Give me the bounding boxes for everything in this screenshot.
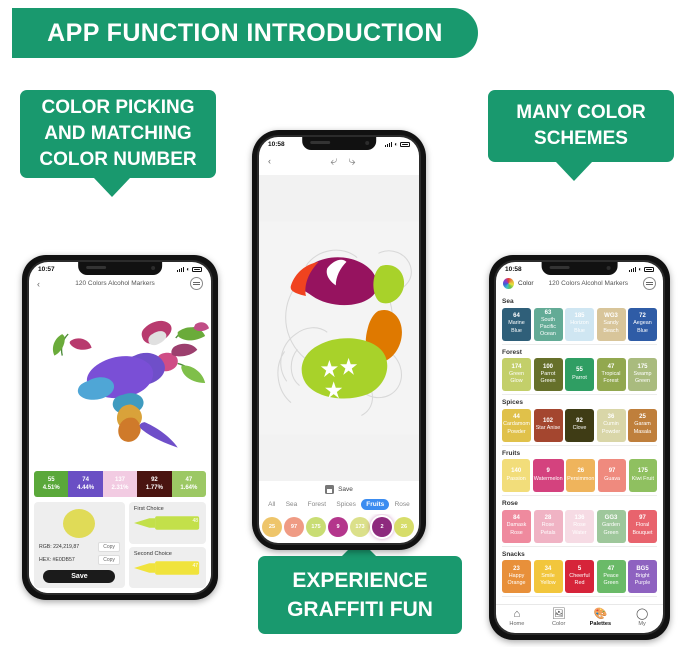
palette-chip-name: Watermelon	[534, 476, 563, 483]
battery-icon	[400, 142, 410, 147]
palette-group-name: Snacks	[502, 551, 657, 558]
palette-chip-name: Parrot	[572, 375, 587, 382]
palette-chip-number: 102	[543, 418, 553, 425]
tab-my-label: My	[638, 621, 645, 627]
header-banner-title: APP FUNCTION INTRODUCTION	[47, 19, 443, 48]
category-tabs: All Sea Forest Spices Fruits Rose	[259, 497, 419, 514]
camera-icon	[151, 266, 155, 270]
hex-row: HEX: #E0DB57 Copy	[39, 555, 120, 565]
phone-left: 10:57 ◐ ‹ 120 Colors Alcohol Markers	[22, 255, 218, 600]
palette-chip-number: 97	[609, 468, 616, 475]
palette-chip-name: Marine Blue	[503, 320, 530, 334]
palette-chip-row: 44Cardamom Powder102Star Anise92Clove36C…	[502, 409, 657, 442]
divider	[502, 596, 657, 597]
color-circle[interactable]: 26	[394, 517, 414, 537]
palette-group-name: Fruits	[502, 450, 657, 457]
tab-all[interactable]: All	[263, 499, 280, 510]
image-icon: 🖼	[552, 609, 566, 620]
wifi-icon: ◐	[186, 267, 190, 273]
palette-chip-number: GG3	[605, 515, 618, 522]
tab-spices[interactable]: Spices	[331, 499, 361, 510]
rgb-row: RGB: 224,219,87 Copy	[39, 542, 120, 552]
palette-chip-number: 63	[545, 310, 552, 317]
palette-chip[interactable]: 92Clove	[565, 409, 594, 442]
speaker-icon	[86, 266, 106, 269]
palette-chip-number: 47	[608, 364, 615, 371]
palette-group: Forest174Green Glow100Parrot Green55Parr…	[496, 345, 663, 396]
palette-chip-name: Aegean Blue	[629, 320, 656, 334]
phone-bezel: 10:58 ◐ Color 120 Colors Alcohol Markers…	[494, 260, 665, 635]
palette-chip[interactable]: 97Floral Bouquet	[628, 510, 657, 543]
page-title: 120 Colors Alcohol Markers	[45, 280, 185, 287]
palette-chip-name: Garden Green	[598, 522, 625, 536]
copy-hex-button[interactable]: Copy	[98, 555, 120, 565]
palette-chip[interactable]: 175Kiwi Fruit	[629, 459, 657, 492]
signal-bars-icon	[177, 267, 185, 272]
tab-forest[interactable]: Forest	[303, 499, 331, 510]
palette-chip[interactable]: 64Marine Blue	[502, 308, 531, 341]
person-icon: ◯	[636, 609, 648, 620]
palette-chip-number: 26	[577, 468, 584, 475]
palette-chip-name: Parrot Green	[535, 371, 562, 385]
palette-chip[interactable]: 47Peace Green	[597, 560, 626, 593]
status-time: 10:57	[38, 266, 55, 273]
second-choice-label: Second Choice	[134, 551, 201, 557]
speaker-icon	[549, 266, 569, 269]
wifi-icon: ◐	[638, 267, 642, 273]
palette-chip[interactable]: 72Aegean Blue	[628, 308, 657, 341]
rgb-value: RGB: 224,219,87	[39, 544, 79, 550]
palette-chip[interactable]: BG5Bright Purple	[628, 560, 657, 593]
swatch-percent: 1.77%	[146, 484, 163, 492]
chevron-left-icon[interactable]: ‹	[37, 279, 40, 289]
phone-right-screen: 10:58 ◐ Color 120 Colors Alcohol Markers…	[496, 262, 663, 633]
palette-chip[interactable]: 44Cardamom Powder	[502, 409, 531, 442]
phone-bezel: 10:58 ◐ ‹ ⤶ ⤷	[257, 135, 421, 545]
battery-icon	[192, 267, 202, 272]
palette-chip-name: Sandy Beach	[598, 320, 625, 334]
color-circle[interactable]: 25	[262, 517, 282, 537]
palette-chip-number: 34	[545, 566, 552, 573]
palette-group: Spices44Cardamom Powder102Star Anise92Cl…	[496, 395, 663, 446]
chevron-left-icon[interactable]: ‹	[268, 156, 271, 166]
palette-group: Fruits140Passion9Watermelon26Persimmon97…	[496, 446, 663, 497]
marker-illustration: 48	[134, 515, 201, 529]
swatch-item[interactable]: 92 1.77%	[137, 471, 171, 497]
palette-chip[interactable]: 9Watermelon	[533, 459, 564, 492]
palette-chip-row: 23Happy Orange34Smile Yellow5Cheerful Re…	[502, 560, 657, 593]
toolbar-center: ⤶ ⤷	[276, 153, 410, 169]
swatch-number: 92	[151, 476, 158, 484]
swatch-item[interactable]: 137 2.31%	[103, 471, 137, 497]
status-icons: ◐	[177, 267, 202, 273]
palette-chip-number: BG5	[636, 566, 648, 573]
palette-chip-name: Peace Green	[598, 573, 625, 587]
color-circle[interactable]: 173	[350, 517, 370, 537]
callout-tail	[94, 178, 130, 197]
callout-graffiti-fun: EXPERIENCE GRAFFITI FUN	[258, 556, 462, 634]
palette-chip[interactable]: 5Cheerful Red	[565, 560, 594, 593]
swatch-number: 55	[48, 476, 55, 484]
palette-chip[interactable]: 47Tropical Forest	[597, 358, 626, 391]
palette-list[interactable]: Sea64Marine Blue63South Pacific Ocean185…	[496, 294, 663, 604]
palette-chip-row: 140Passion9Watermelon26Persimmon97Guava1…	[502, 459, 657, 492]
save-row[interactable]: Save	[259, 481, 419, 497]
palette-chip[interactable]: 136Rose Water	[565, 510, 594, 543]
notch	[541, 262, 618, 275]
palette-chip-number: 175	[637, 364, 647, 371]
phone-left-screen: 10:57 ◐ ‹ 120 Colors Alcohol Markers	[29, 262, 211, 593]
tab-sea[interactable]: Sea	[281, 499, 303, 510]
marker-shape-icon	[134, 515, 201, 531]
swatch-percent: 4.44%	[77, 484, 94, 492]
palette-chip-name: Swamp Green	[629, 371, 656, 385]
save-button[interactable]: Save	[43, 570, 115, 583]
color-wheel-icon[interactable]	[503, 278, 514, 289]
palette-chip-number: 55	[576, 367, 583, 374]
signal-bars-icon	[385, 142, 393, 147]
palette-chip-number: 23	[513, 566, 520, 573]
callout-many-schemes: MANY COLOR SCHEMES	[488, 90, 674, 162]
status-icons: ◐	[385, 142, 410, 148]
palette-chip-name: Smile Yellow	[535, 573, 562, 587]
tab-my[interactable]: ◯ My	[621, 609, 663, 628]
color-circle[interactable]: 9	[328, 517, 348, 537]
palette-group: Sea64Marine Blue63South Pacific Ocean185…	[496, 294, 663, 345]
palette-chip-number: 64	[513, 313, 520, 320]
palette-chip[interactable]: 25Garam Masala	[628, 409, 657, 442]
hex-value: HEX: #E0DB57	[39, 557, 75, 563]
phone-bezel: 10:57 ◐ ‹ 120 Colors Alcohol Markers	[27, 260, 213, 595]
picker-panels: RGB: 224,219,87 Copy HEX: #E0DB57 Copy S…	[29, 497, 211, 593]
header-banner: APP FUNCTION INTRODUCTION	[12, 8, 478, 58]
palette-chip-name: Bright Purple	[629, 573, 656, 587]
palette-chip-name: Clove	[573, 425, 587, 432]
palette-chip-row: 174Green Glow100Parrot Green55Parrot47Tr…	[502, 358, 657, 391]
palette-chip-number: 28	[545, 515, 552, 522]
redo-arrow-icon[interactable]: ⤷	[348, 153, 355, 168]
color-circle[interactable]: 175	[306, 517, 326, 537]
palette-chip-number: 92	[576, 418, 583, 425]
first-choice-number: 48	[192, 518, 198, 524]
palette-chip[interactable]: 185Horizon Blue	[565, 308, 594, 341]
palette-chip[interactable]: 23Happy Orange	[502, 560, 531, 593]
palette-chip-number: 36	[608, 414, 615, 421]
tab-palettes-label: Palettes	[590, 621, 611, 627]
palette-chip[interactable]: 55Parrot	[565, 358, 594, 391]
palette-chip-name: Passion	[507, 476, 526, 483]
palette-chip-name: Cheerful Red	[566, 573, 593, 587]
phone-middle: 10:58 ◐ ‹ ⤶ ⤷	[252, 130, 426, 550]
first-choice-card[interactable]: First Choice 48	[129, 502, 206, 544]
tab-home-label: Home	[509, 621, 524, 627]
palette-chip-name: Cumin Powder	[598, 421, 625, 435]
editor-toolbar: ‹ ⤶ ⤷	[259, 149, 419, 175]
palette-chip-number: 97	[639, 515, 646, 522]
save-disk-icon	[325, 485, 334, 494]
palette-chip-row: 84Damask Rose28Rose Petals136Rose WaterG…	[502, 510, 657, 543]
palette-header: Color 120 Colors Alcohol Markers	[496, 274, 663, 294]
swatch-item[interactable]: 55 4.51%	[34, 471, 68, 497]
palette-chip-name: Happy Orange	[503, 573, 530, 587]
save-label: Save	[338, 486, 353, 493]
status-icons: ◐	[629, 267, 654, 273]
palette-icon: 🎨	[594, 609, 608, 620]
palette-chip-name: Tropical Forest	[598, 371, 625, 385]
palette-group-name: Forest	[502, 349, 657, 356]
swatch-percent: 1.64%	[180, 484, 197, 492]
palette-group-name: Rose	[502, 500, 657, 507]
tab-color[interactable]: 🖼 Color	[538, 609, 580, 628]
callout-color-picking: COLOR PICKING AND MATCHING COLOR NUMBER	[20, 90, 216, 178]
home-icon: ⌂	[514, 609, 521, 620]
palette-chip[interactable]: GG3Garden Green	[597, 510, 626, 543]
palette-chip[interactable]: 84Damask Rose	[502, 510, 531, 543]
palette-chip[interactable]: 34Smile Yellow	[534, 560, 563, 593]
palette-chip-name: Rose Water	[566, 522, 593, 536]
palette-group: Rose84Damask Rose28Rose Petals136Rose Wa…	[496, 496, 663, 547]
palette-chip-name: Cardamom Powder	[503, 421, 530, 435]
palette-chip-name: Green Glow	[503, 371, 530, 385]
phone-middle-screen: 10:58 ◐ ‹ ⤶ ⤷	[259, 137, 419, 543]
palette-chip[interactable]: 26Persimmon	[566, 459, 595, 492]
color-circle[interactable]: 97	[284, 517, 304, 537]
palette-chip-name: Damask Rose	[503, 522, 530, 536]
bottom-tab-bar: ⌂ Home 🖼 Color 🎨 Palettes ◯ My	[496, 604, 663, 634]
palette-chip-name: Guava	[604, 476, 620, 483]
palette-chip[interactable]: 174Green Glow	[502, 358, 531, 391]
second-choice-number: 47	[192, 563, 198, 569]
battery-icon	[644, 267, 654, 272]
first-choice-label: First Choice	[134, 506, 201, 512]
palette-chip[interactable]: 102Star Anise	[534, 409, 563, 442]
palette-chip-name: Star Anise	[536, 425, 561, 432]
palette-group-name: Sea	[502, 298, 657, 305]
palette-chip[interactable]: 36Cumin Powder	[597, 409, 626, 442]
hummingbird-illustration	[29, 295, 211, 471]
swatch-number: 47	[185, 476, 192, 484]
palette-chip-name: South Pacific Ocean	[535, 317, 562, 339]
palette-chip-number: 175	[638, 468, 648, 475]
palette-chip-number: 25	[639, 414, 646, 421]
tab-color-label: Color	[552, 621, 565, 627]
palette-chip-number: 5	[578, 566, 581, 573]
palette-chip-name: Kiwi Fruit	[632, 476, 654, 483]
palette-chip-number: 84	[513, 515, 520, 522]
copy-rgb-button[interactable]: Copy	[98, 542, 120, 552]
palette-chip-number: 100	[543, 364, 553, 371]
palette-chip-number: 174	[511, 364, 521, 371]
page-title: 120 Colors Alcohol Markers	[538, 280, 639, 287]
palette-chip-name: Garam Masala	[629, 421, 656, 435]
artwork-hummingbird[interactable]	[29, 295, 211, 471]
palette-chip-number: 140	[511, 468, 521, 475]
palette-chip[interactable]: WG3Sandy Beach	[597, 308, 626, 341]
undo-arrow-icon[interactable]: ⤶	[330, 153, 337, 168]
signal-bars-icon	[629, 267, 637, 272]
camera-icon	[365, 141, 369, 145]
swatch-percent: 2.31%	[112, 484, 129, 492]
palette-chip[interactable]: 100Parrot Green	[534, 358, 563, 391]
palette-chip-number: 47	[608, 566, 615, 573]
palette-chip[interactable]: 63South Pacific Ocean	[534, 308, 563, 341]
palette-chip-number: 136	[574, 515, 584, 522]
palette-chip[interactable]: 28Rose Petals	[534, 510, 563, 543]
callout-tail	[556, 162, 592, 181]
choices-panel: First Choice 48 Second Choice	[129, 502, 206, 588]
palette-chip-number: 72	[639, 313, 646, 320]
nav-bar: ‹ 120 Colors Alcohol Markers	[29, 274, 211, 295]
swatch-number: 74	[82, 476, 89, 484]
status-time: 10:58	[505, 266, 522, 273]
swatch-item[interactable]: 47 1.64%	[172, 471, 206, 497]
palette-group-name: Spices	[502, 399, 657, 406]
swatch-number: 137	[115, 476, 125, 484]
color-circle-selected[interactable]: 2	[372, 517, 392, 537]
callout-color-picking-label: COLOR PICKING AND MATCHING COLOR NUMBER	[20, 95, 216, 173]
picked-color-panel: RGB: 224,219,87 Copy HEX: #E0DB57 Copy S…	[34, 502, 125, 588]
palette-chip-name: Rose Petals	[535, 522, 562, 536]
palette-chip-name: Horizon Blue	[566, 320, 593, 334]
coloring-canvas[interactable]	[259, 175, 419, 481]
callout-graffiti-fun-label: EXPERIENCE GRAFFITI FUN	[258, 566, 462, 624]
tab-palettes[interactable]: 🎨 Palettes	[580, 609, 622, 628]
callout-many-schemes-label: MANY COLOR SCHEMES	[488, 100, 674, 152]
phone-right: 10:58 ◐ Color 120 Colors Alcohol Markers…	[489, 255, 670, 640]
tab-rose[interactable]: Rose	[390, 499, 415, 510]
color-label: Color	[518, 280, 534, 287]
hamburger-circle-icon[interactable]	[190, 277, 203, 290]
swatch-item[interactable]: 74 4.44%	[68, 471, 102, 497]
palette-chip[interactable]: 175Swamp Green	[628, 358, 657, 391]
marker-shape-icon	[134, 560, 201, 576]
camera-icon	[607, 266, 611, 270]
hamburger-circle-icon[interactable]	[643, 277, 656, 290]
picked-color-swatch[interactable]	[63, 509, 95, 538]
palette-chip-number: WG3	[604, 313, 618, 320]
second-choice-card[interactable]: Second Choice 47	[129, 547, 206, 589]
notch	[78, 262, 162, 275]
tab-home[interactable]: ⌂ Home	[496, 609, 538, 628]
palette-chip-row: 64Marine Blue63South Pacific Ocean185Hor…	[502, 308, 657, 341]
palette-chip-name: Persimmon	[567, 476, 594, 483]
palette-chip-name: Floral Bouquet	[629, 522, 656, 536]
notch	[302, 137, 376, 150]
palette-chip[interactable]: 140Passion	[502, 459, 530, 492]
speaker-icon	[310, 141, 330, 144]
palette-chip-number: 44	[513, 414, 520, 421]
swatch-percent: 4.51%	[43, 484, 60, 492]
tab-fruits[interactable]: Fruits	[361, 499, 389, 510]
color-circle-row: 25 97 175 9 173 2 26	[259, 514, 419, 543]
palette-group: Snacks23Happy Orange34Smile Yellow5Cheer…	[496, 547, 663, 598]
palette-chip[interactable]: 97Guava	[598, 459, 626, 492]
color-percentage-row: 55 4.51% 74 4.44% 137 2.31% 92 1.77% 47 …	[34, 471, 206, 497]
marker-illustration: 47	[134, 560, 201, 574]
wifi-icon: ◐	[394, 142, 398, 148]
status-time: 10:58	[268, 141, 285, 148]
pony-coloring-artwork	[259, 175, 419, 481]
palette-chip-number: 185	[574, 313, 584, 320]
palette-chip-number: 9	[547, 468, 550, 475]
